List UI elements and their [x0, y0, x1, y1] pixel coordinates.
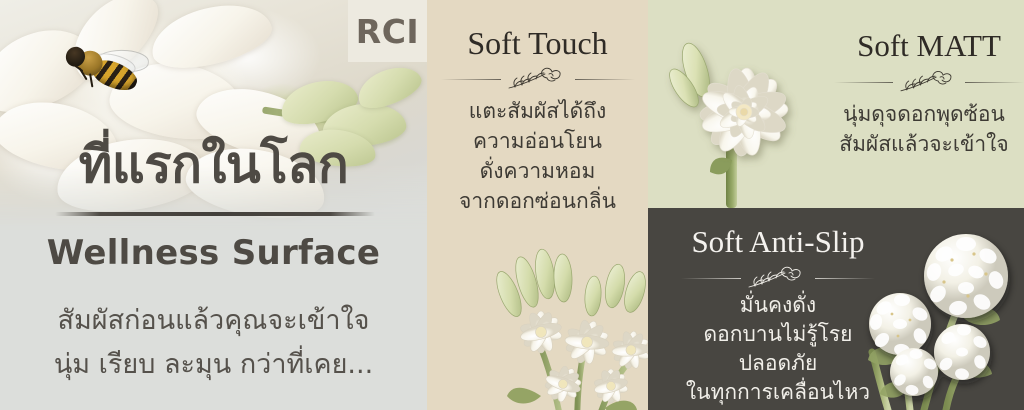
card-title-soft-touch: Soft Touch [427, 25, 648, 62]
card-body-line: สัมผัสแล้วจะเข้าใจ [824, 129, 1024, 159]
ornament-line-right [575, 79, 635, 80]
card-body-line: แตะสัมผัสได้ถึง [427, 96, 648, 126]
gardenia-flower-image [662, 34, 822, 208]
card-body-line: ความอ่อนโยน [427, 126, 648, 156]
card-soft-touch: Soft Touch แตะสัมผัสได้ถึง [427, 0, 648, 410]
hero-body-line-1: สัมผัสก่อนแล้วคุณจะเข้าใจ [0, 298, 427, 341]
promo-banner: RCI ที่แรกในโลก Wellness Surface สัมผัสก… [0, 0, 1024, 410]
globe-flower-head [868, 293, 931, 358]
card-body-soft-matt: นุ่มดุจดอกพุดซ้อน สัมผัสแล้วจะเข้าใจ [824, 99, 1024, 159]
ornament-line-left [834, 82, 893, 83]
floral-branch-icon [747, 265, 809, 291]
hero-body-line-2: นุ่ม เรียบ ละมุน กว่าที่เคย... [0, 342, 427, 385]
card-soft-matt: Soft MATT นุ่มดุจดอกพุดซ้อน [648, 0, 1024, 208]
card-title-soft-matt: Soft MATT [834, 28, 1024, 64]
hero-panel: RCI ที่แรกในโลก Wellness Surface สัมผัสก… [0, 0, 427, 410]
card-body-line: ดั่งความหอม [427, 156, 648, 186]
ornament-line-right [965, 82, 1024, 83]
hero-subheading: Wellness Surface [0, 233, 427, 273]
floral-branch-icon [507, 66, 569, 92]
globe-amaranth-image [840, 224, 1024, 410]
card-soft-anti-slip: Soft Anti-Slip มั่นคงดั่ง [648, 208, 1024, 410]
globe-flower-head [924, 234, 1008, 318]
rci-logo-text: RCI [356, 12, 419, 51]
card-body-line: จากดอกซ่อนกลิ่น [427, 186, 648, 216]
ornament-divider-soft-touch [427, 66, 648, 92]
headline-divider [55, 212, 375, 216]
card-body-soft-touch: แตะสัมผัสได้ถึง ความอ่อนโยน ดั่งความหอม … [427, 96, 648, 216]
tuberose-spray-image [445, 246, 648, 410]
floral-branch-icon [899, 69, 960, 95]
rci-logo-badge: RCI [348, 0, 427, 62]
ornament-divider-soft-matt [834, 69, 1024, 95]
card-body-line: นุ่มดุจดอกพุดซ้อน [824, 99, 1024, 129]
hero-headline: ที่แรกในโลก [0, 140, 427, 191]
ornament-line-left [441, 79, 501, 80]
ornament-line-left [681, 278, 741, 279]
